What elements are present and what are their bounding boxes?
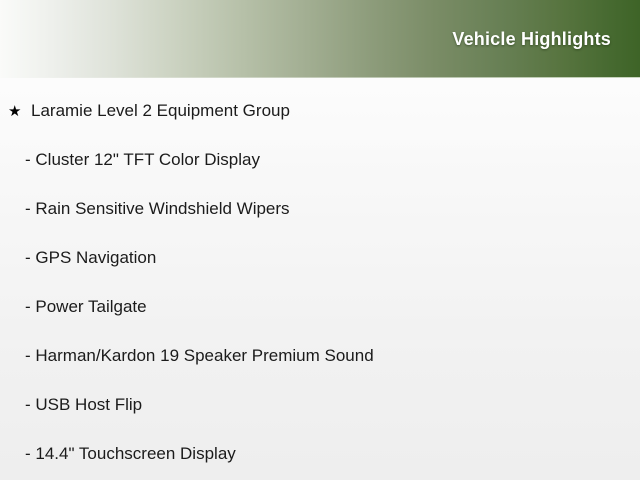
highlight-label: - Cluster 12" TFT Color Display	[25, 135, 260, 184]
list-item: - 14.4" Touchscreen Display	[0, 429, 640, 478]
highlight-label: Laramie Level 2 Equipment Group	[31, 87, 290, 135]
list-item: - Cluster 12" TFT Color Display	[0, 135, 640, 184]
highlight-label: - Rain Sensitive Windshield Wipers	[25, 184, 290, 233]
highlight-label: - USB Host Flip	[25, 380, 142, 429]
list-item: - GPS Navigation	[0, 233, 640, 282]
vehicle-highlights-list: ★ Laramie Level 2 Equipment Group - Clus…	[0, 87, 640, 478]
list-item: - USB Host Flip	[0, 380, 640, 429]
highlight-label: - Power Tailgate	[25, 282, 147, 331]
highlight-label: - 14.4" Touchscreen Display	[25, 429, 236, 478]
highlight-label: - Harman/Kardon 19 Speaker Premium Sound	[25, 331, 374, 380]
highlight-label: - GPS Navigation	[25, 233, 156, 282]
list-item: - Harman/Kardon 19 Speaker Premium Sound	[0, 331, 640, 380]
star-bullet-icon: ★	[8, 87, 31, 136]
page-header: Vehicle Highlights	[0, 0, 640, 78]
list-item: ★ Laramie Level 2 Equipment Group	[0, 87, 640, 135]
list-item: - Rain Sensitive Windshield Wipers	[0, 184, 640, 233]
list-item: - Power Tailgate	[0, 282, 640, 331]
page-title: Vehicle Highlights	[452, 29, 611, 50]
